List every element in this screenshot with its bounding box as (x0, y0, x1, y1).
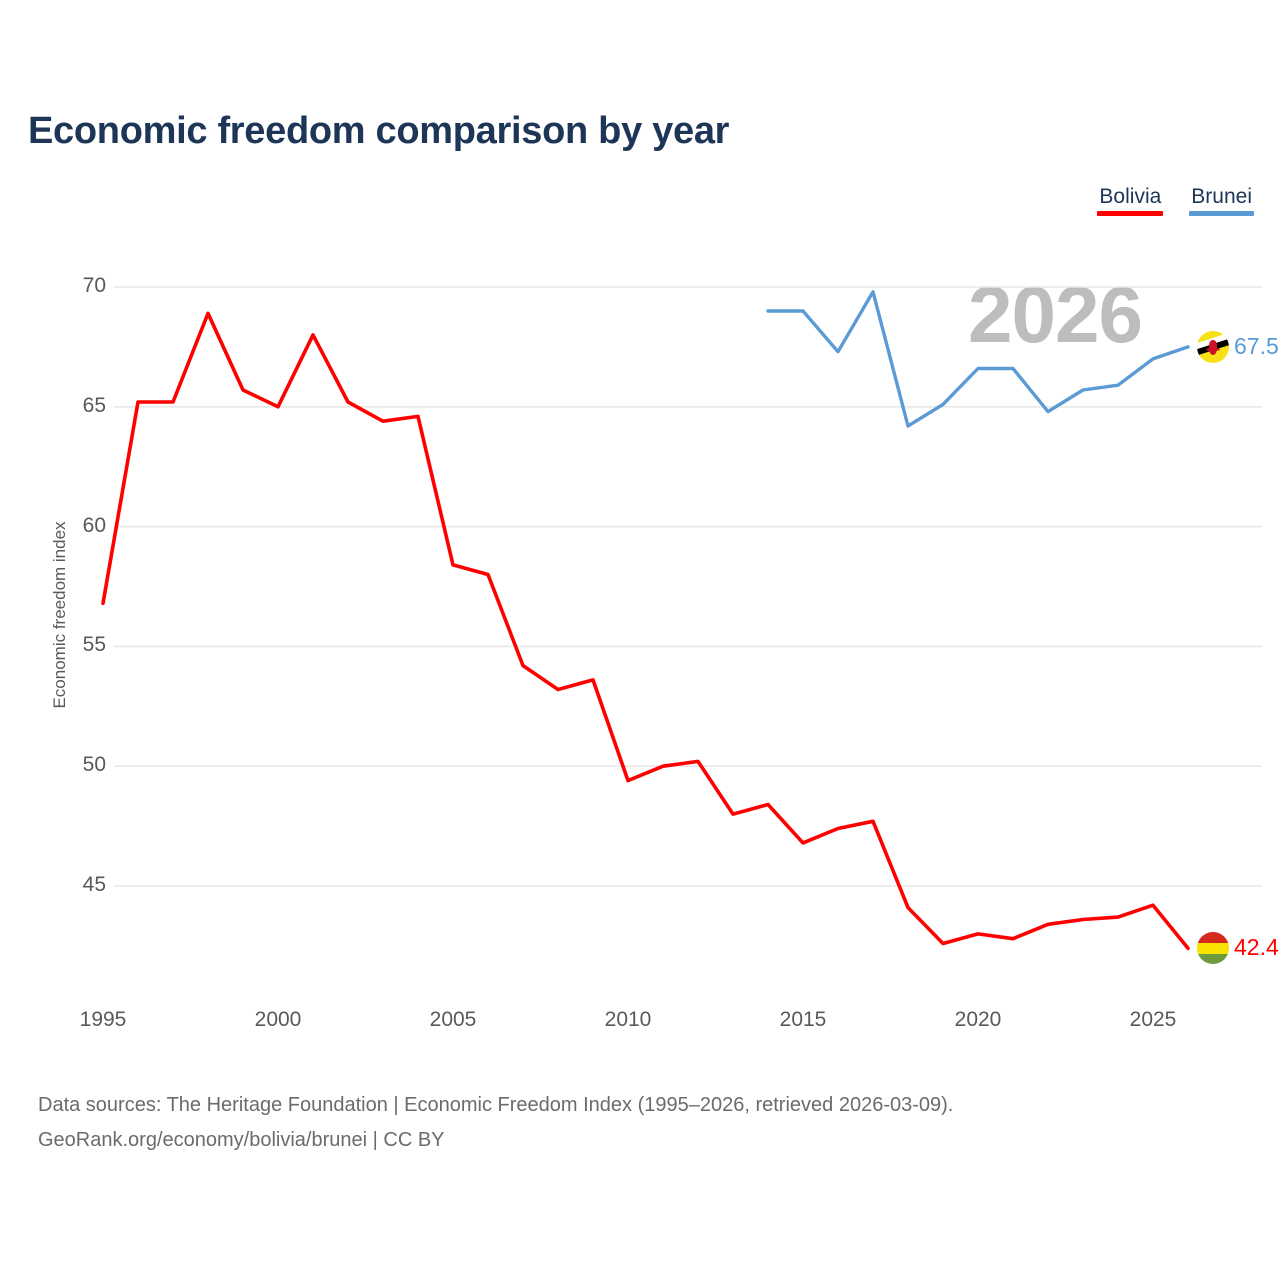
brunei-flag-icon (1197, 331, 1229, 363)
x-tick-label: 2015 (763, 1008, 843, 1032)
endpoint-value-brunei: 67.5 (1234, 333, 1279, 360)
x-tick-label: 2000 (238, 1008, 318, 1032)
footer-line-2: GeoRank.org/economy/bolivia/brunei | CC … (38, 1123, 953, 1158)
footer-line-1: Data sources: The Heritage Foundation | … (38, 1088, 953, 1123)
y-tick-label: 45 (46, 873, 106, 897)
series-line-brunei (768, 292, 1188, 426)
x-tick-label: 2025 (1113, 1008, 1193, 1032)
gridlines (114, 287, 1262, 886)
series-line-bolivia (103, 313, 1188, 948)
y-tick-label: 70 (46, 274, 106, 298)
footer-attribution: Data sources: The Heritage Foundation | … (38, 1088, 953, 1158)
endpoint-value-bolivia: 42.4 (1234, 934, 1279, 961)
x-tick-label: 2005 (413, 1008, 493, 1032)
x-tick-label: 1995 (63, 1008, 143, 1032)
y-tick-label: 50 (46, 753, 106, 777)
series-lines (103, 292, 1188, 949)
y-tick-label: 65 (46, 394, 106, 418)
bolivia-flag-icon (1197, 932, 1229, 964)
x-tick-label: 2010 (588, 1008, 668, 1032)
x-tick-label: 2020 (938, 1008, 1018, 1032)
y-axis-label: Economic freedom index (50, 495, 70, 735)
